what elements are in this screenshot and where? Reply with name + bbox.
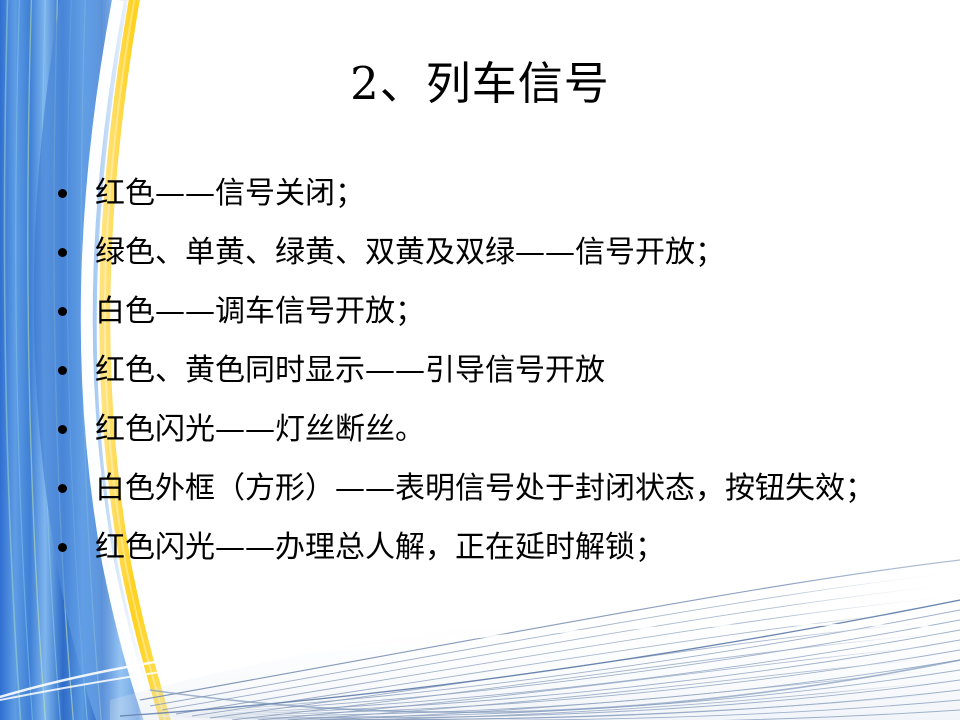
bullet-dot-icon (58, 189, 67, 198)
list-item-text: 绿色、单黄、绿黄、双黄及双绿——信号开放； (95, 231, 942, 274)
list-item: 红色——信号关闭； (52, 172, 942, 215)
bullet-dot-icon (58, 425, 67, 434)
list-item: 白色外框（方形）——表明信号处于封闭状态，按钮失效； (52, 467, 940, 510)
bullet-dot-icon (58, 307, 67, 316)
list-item-text: 红色闪光——灯丝断丝。 (95, 408, 942, 451)
list-item-text: 红色、黄色同时显示——引导信号开放 (95, 349, 942, 392)
list-item: 红色闪光——灯丝断丝。 (52, 408, 942, 451)
list-item-text: 红色——信号关闭； (95, 172, 942, 215)
slide-title: 2、列车信号 (0, 58, 960, 110)
list-item: 红色、黄色同时显示——引导信号开放 (52, 349, 942, 392)
bullet-list: 红色——信号关闭； 绿色、单黄、绿黄、双黄及双绿——信号开放； 白色——调车信号… (52, 172, 942, 585)
list-item: 白色——调车信号开放； (52, 290, 942, 333)
list-item: 绿色、单黄、绿黄、双黄及双绿——信号开放； (52, 231, 942, 274)
bullet-dot-icon (58, 248, 67, 257)
list-item-text: 红色闪光——办理总人解，正在延时解锁； (95, 526, 942, 569)
bullet-dot-icon (58, 484, 67, 493)
list-item: 红色闪光——办理总人解，正在延时解锁； (52, 526, 942, 569)
list-item-text: 白色外框（方形）——表明信号处于封闭状态，按钮失效； (95, 467, 940, 510)
bullet-dot-icon (58, 366, 67, 375)
slide-canvas: 2、列车信号 红色——信号关闭； 绿色、单黄、绿黄、双黄及双绿——信号开放； 白… (0, 0, 960, 720)
bullet-dot-icon (58, 543, 67, 552)
list-item-text: 白色——调车信号开放； (95, 290, 942, 333)
